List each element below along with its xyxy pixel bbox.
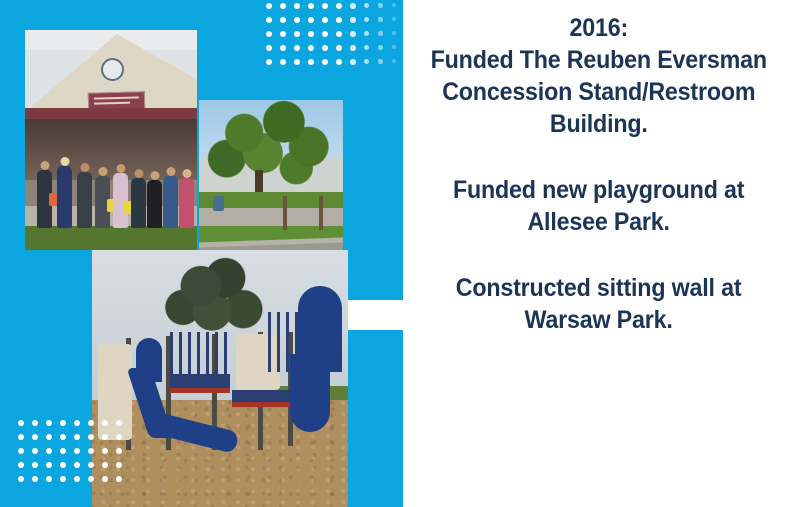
dot <box>336 59 342 65</box>
dot <box>378 17 383 22</box>
heading-year: 2016: <box>431 12 767 44</box>
dot <box>364 3 369 8</box>
dot <box>392 45 396 49</box>
trash-bin-icon <box>213 196 224 211</box>
dot <box>336 31 342 37</box>
text-block-playground: Funded new playground at Allesee Park. <box>442 174 755 238</box>
dot <box>46 420 52 426</box>
dot <box>116 434 122 440</box>
dot <box>18 462 24 468</box>
dot <box>266 45 272 51</box>
dot <box>116 420 122 426</box>
dot-row <box>18 434 130 448</box>
building-medallion-icon <box>101 58 124 81</box>
dot <box>116 462 122 468</box>
dot <box>32 476 38 482</box>
dot <box>336 45 342 51</box>
dot-row <box>266 31 403 45</box>
dot <box>294 59 300 65</box>
dot-grid-top <box>266 3 403 73</box>
heading-line-concession: Concession Stand/Restroom <box>431 76 767 108</box>
dot <box>116 448 122 454</box>
dot <box>364 17 369 22</box>
dot <box>102 420 108 426</box>
dot <box>18 448 24 454</box>
dot <box>102 448 108 454</box>
dot <box>46 476 52 482</box>
dot <box>364 59 369 64</box>
dot <box>102 476 108 482</box>
dot <box>322 3 328 9</box>
dot <box>392 59 396 63</box>
dot-row <box>266 17 403 31</box>
dot <box>378 31 383 36</box>
dot <box>322 45 328 51</box>
dot <box>74 462 80 468</box>
dot <box>308 45 314 51</box>
dot <box>322 59 328 65</box>
dot <box>336 3 342 9</box>
dot <box>350 45 356 51</box>
photo-concession-stand <box>25 30 197 250</box>
dot <box>18 476 24 482</box>
dot <box>322 31 328 37</box>
dot-row <box>266 59 403 73</box>
sitting-wall-line-2: Warsaw Park. <box>456 304 742 336</box>
dot <box>102 434 108 440</box>
dot <box>266 31 272 37</box>
playground-line-1: Funded new playground at <box>453 174 744 206</box>
dot <box>88 476 94 482</box>
dot <box>308 3 314 9</box>
photo-collage <box>0 0 403 507</box>
sitting-wall-line-1: Constructed sitting wall at <box>456 272 742 304</box>
dot <box>392 17 396 21</box>
photo-playground <box>92 250 348 507</box>
dot <box>350 59 356 65</box>
dot <box>88 420 94 426</box>
dot <box>266 59 272 65</box>
dot <box>74 476 80 482</box>
dot <box>336 17 342 23</box>
text-panel: 2016: Funded The Reuben Eversman Concess… <box>403 0 795 507</box>
dot <box>102 462 108 468</box>
dot <box>364 45 369 50</box>
dot <box>74 448 80 454</box>
dot-grid-bottom <box>18 420 130 490</box>
dot <box>294 31 300 37</box>
dot <box>350 3 356 9</box>
dot <box>308 17 314 23</box>
dot <box>88 448 94 454</box>
spiral-slide <box>290 354 330 432</box>
dot <box>294 3 300 9</box>
dot-row <box>18 476 130 490</box>
dot-row <box>18 462 130 476</box>
text-block-sitting-wall: Constructed sitting wall at Warsaw Park. <box>445 272 752 336</box>
dot <box>308 59 314 65</box>
dot <box>280 45 286 51</box>
dot <box>280 31 286 37</box>
dot <box>378 45 383 50</box>
dot <box>322 17 328 23</box>
slide-canvas: 2016: Funded The Reuben Eversman Concess… <box>0 0 795 507</box>
dot <box>116 476 122 482</box>
dot <box>308 31 314 37</box>
dot <box>60 476 66 482</box>
dot <box>60 462 66 468</box>
dot <box>392 3 396 7</box>
dot <box>88 434 94 440</box>
dot <box>364 31 369 36</box>
dot <box>88 462 94 468</box>
dot <box>266 3 272 9</box>
dot-row <box>266 3 403 17</box>
dot <box>74 420 80 426</box>
heading-line-funded: Funded The Reuben Eversman <box>431 44 767 76</box>
dot <box>32 462 38 468</box>
playground-line-2: Allesee Park. <box>453 206 744 238</box>
dot <box>266 17 272 23</box>
dot-row <box>18 420 130 434</box>
dot <box>60 420 66 426</box>
dot <box>60 434 66 440</box>
dot <box>46 462 52 468</box>
dot <box>280 3 286 9</box>
dot <box>350 17 356 23</box>
dot <box>378 59 383 64</box>
dot <box>392 31 396 35</box>
dot <box>74 434 80 440</box>
dot-row <box>266 45 403 59</box>
dot <box>294 45 300 51</box>
dot-row <box>18 448 130 462</box>
dot <box>294 17 300 23</box>
dot <box>60 448 66 454</box>
dot <box>32 448 38 454</box>
heading-line-building: Building. <box>431 108 767 140</box>
text-block-2016: 2016: Funded The Reuben Eversman Concess… <box>418 12 780 140</box>
dot <box>280 59 286 65</box>
dot <box>18 434 24 440</box>
blue-block-right <box>343 330 403 507</box>
dot <box>32 434 38 440</box>
dot <box>46 434 52 440</box>
dot <box>378 3 383 8</box>
dot <box>280 17 286 23</box>
dot <box>18 420 24 426</box>
dot <box>46 448 52 454</box>
dot <box>350 31 356 37</box>
dot <box>32 420 38 426</box>
